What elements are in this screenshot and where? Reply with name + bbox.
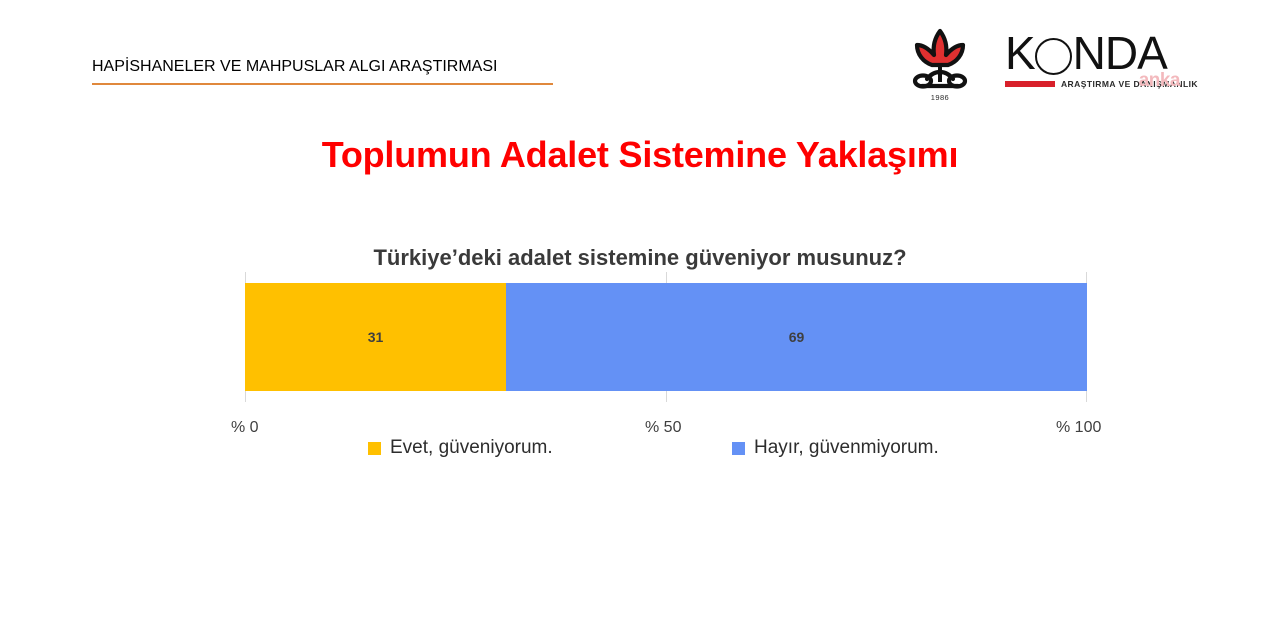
bar-segment-evet[interactable]: 31 xyxy=(245,283,506,391)
legend-label: Hayır, güvenmiyorum. xyxy=(754,437,939,459)
konda-tagline-row: ARAŞTIRMA VE DANIŞMANLIK xyxy=(1005,79,1198,89)
header-divider-rule xyxy=(92,83,553,85)
x-axis-tick-labels: % 0 % 50 % 100 xyxy=(245,419,1087,439)
konda-circle-o-icon xyxy=(1035,38,1072,75)
konda-wordmark-k: K xyxy=(1005,32,1035,76)
legend-item-evet[interactable]: Evet, güveniyorum. xyxy=(368,437,553,459)
konda-tagline: ARAŞTIRMA VE DANIŞMANLIK xyxy=(1061,79,1198,89)
axis-tick-50: % 50 xyxy=(645,419,681,437)
chart-legend: Evet, güveniyorum. Hayır, güvenmiyorum. xyxy=(245,437,1087,465)
tulip-emblem-icon xyxy=(910,24,970,92)
page-title: Toplumun Adalet Sistemine Yaklaşımı xyxy=(0,134,1280,176)
konda-wordmark: K NDA xyxy=(1005,32,1198,76)
konda-logo: K NDA ARAŞTIRMA VE DANIŞMANLIK anka xyxy=(1005,24,1198,89)
axis-tick-100: % 100 xyxy=(1056,419,1101,437)
stacked-bar: 31 69 xyxy=(245,283,1087,391)
bar-value-label: 69 xyxy=(789,329,805,345)
bar-segment-hayir[interactable]: 69 xyxy=(506,283,1087,391)
konda-tagline-bar xyxy=(1005,81,1055,87)
tulip-logo: 1986 xyxy=(909,24,971,102)
legend-label: Evet, güveniyorum. xyxy=(390,437,553,459)
tulip-logo-year: 1986 xyxy=(931,93,949,102)
chart-title: Türkiye’deki adalet sistemine güveniyor … xyxy=(0,245,1280,271)
chart-plot-area: 31 69 xyxy=(245,272,1087,402)
legend-item-hayir[interactable]: Hayır, güvenmiyorum. xyxy=(732,437,939,459)
konda-wordmark-nda: NDA xyxy=(1073,32,1167,76)
legend-swatch-icon xyxy=(732,442,745,455)
bar-value-label: 31 xyxy=(368,329,384,345)
logo-group: 1986 K NDA ARAŞTIRMA VE DANIŞMANLIK anka xyxy=(909,24,1198,102)
legend-swatch-icon xyxy=(368,442,381,455)
report-header-title: HAPİSHANELER VE MAHPUSLAR ALGI ARAŞTIRMA… xyxy=(92,58,562,76)
axis-tick-0: % 0 xyxy=(231,419,259,437)
report-header: HAPİSHANELER VE MAHPUSLAR ALGI ARAŞTIRMA… xyxy=(92,58,562,85)
